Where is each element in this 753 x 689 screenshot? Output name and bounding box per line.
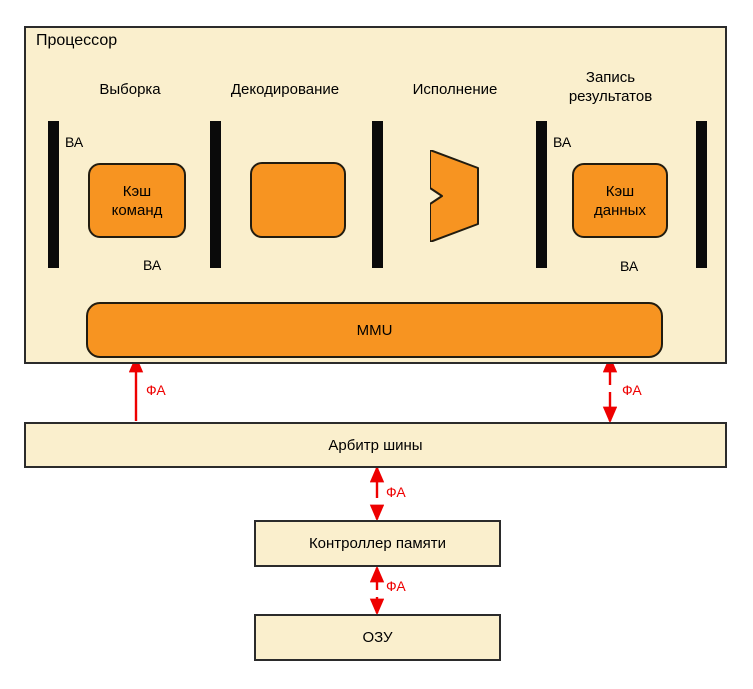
label-pa-mc-to-ram: ФА [386, 578, 406, 594]
stage-label-decode: Декодирование [200, 80, 370, 99]
pipeline-latch-1 [48, 121, 59, 268]
decode-unit-block[interactable] [250, 162, 346, 238]
label-pa-arbiter-to-mc: ФА [386, 484, 406, 500]
bus-arbiter-block[interactable]: Арбитр шины [24, 422, 727, 468]
ram-block[interactable]: ОЗУ [254, 614, 501, 661]
label-va-writeback-input: ВА [553, 134, 571, 150]
pipeline-latch-2 [210, 121, 221, 268]
pipeline-latch-5 [696, 121, 707, 268]
label-va-mmu-to-icache: ВА [143, 257, 161, 273]
instruction-cache-block[interactable]: Кэш команд [88, 163, 186, 238]
mmu-block[interactable]: MMU [86, 302, 663, 358]
stage-label-execute: Исполнение [380, 80, 530, 99]
diagram-canvas: Процессор Выборка Декодирование Исполнен… [0, 0, 753, 689]
label-va-dcache-to-mmu: ВА [620, 258, 638, 274]
stage-label-fetch: Выборка [60, 80, 200, 99]
pipeline-latch-4 [536, 121, 547, 268]
memory-controller-block[interactable]: Контроллер памяти [254, 520, 501, 567]
label-va-fetch-input: ВА [65, 134, 83, 150]
processor-title: Процессор [36, 32, 117, 50]
alu-block[interactable] [430, 150, 482, 242]
pipeline-latch-3 [372, 121, 383, 268]
stage-label-writeback: Запись результатов [538, 68, 683, 106]
data-cache-block[interactable]: Кэш данных [572, 163, 668, 238]
label-pa-mmu-right: ФА [622, 382, 642, 398]
label-pa-mmu-left: ФА [146, 382, 166, 398]
